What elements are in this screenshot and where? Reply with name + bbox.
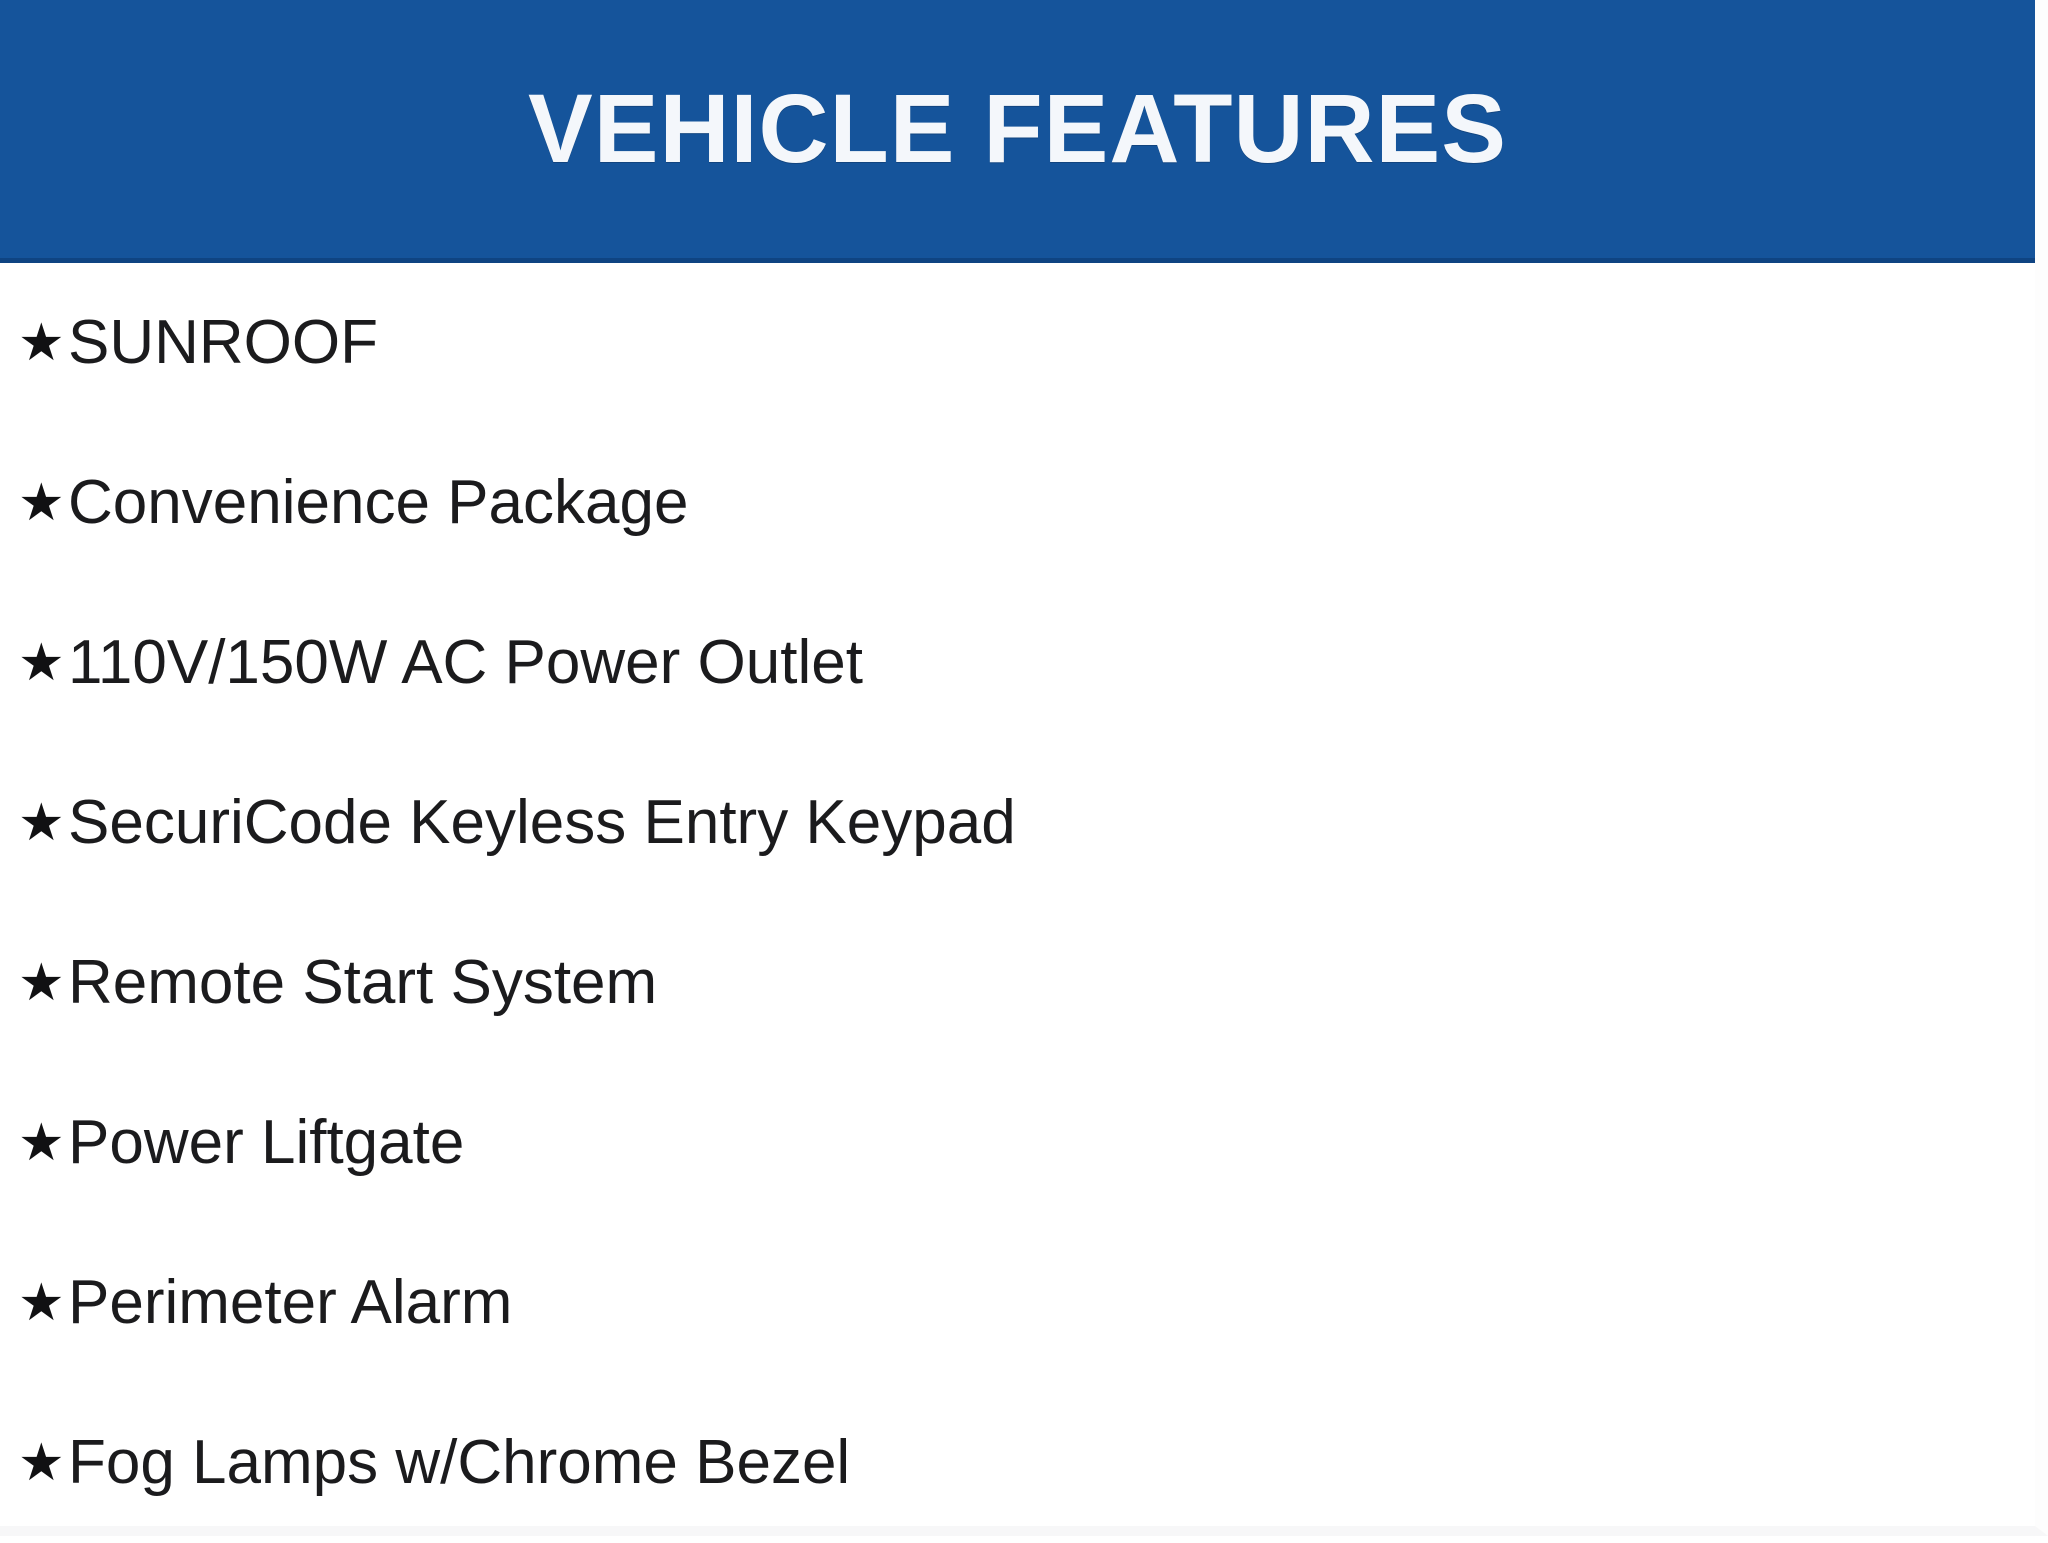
list-item: ★ Fog Lamps w/Chrome Bezel [0,1383,2022,1543]
feature-label: Fog Lamps w/Chrome Bezel [68,1432,850,1494]
star-icon: ★ [18,637,68,689]
feature-label: Remote Start System [68,952,657,1014]
list-item: ★ SecuriCode Keyless Entry Keypad [0,743,2022,903]
star-icon: ★ [18,477,68,529]
star-icon: ★ [18,317,68,369]
feature-label: SUNROOF [68,312,378,374]
list-item: ★ 110V/150W AC Power Outlet [0,583,2022,743]
feature-label: SecuriCode Keyless Entry Keypad [68,792,1016,854]
star-icon: ★ [18,797,68,849]
star-icon: ★ [18,1117,68,1169]
vehicle-features-header: VEHICLE FEATURES [0,0,2035,263]
vehicle-features-list: ★ SUNROOF ★ Convenience Package ★ 110V/1… [0,263,2022,1526]
star-icon: ★ [18,1437,68,1489]
page-title: VEHICLE FEATURES [528,80,1507,183]
star-icon: ★ [18,1277,68,1329]
vehicle-features-panel: VEHICLE FEATURES ★ SUNROOF ★ Convenience… [0,0,2048,1536]
list-item: ★ SUNROOF [0,263,2022,423]
feature-label: 110V/150W AC Power Outlet [68,632,863,694]
feature-label: Perimeter Alarm [68,1272,512,1334]
star-icon: ★ [18,957,68,1009]
feature-label: Power Liftgate [68,1112,464,1174]
list-item: ★ Perimeter Alarm [0,1223,2022,1383]
feature-label: Convenience Package [68,472,688,534]
list-item: ★ Power Liftgate [0,1063,2022,1223]
list-item: ★ Convenience Package [0,423,2022,583]
list-item: ★ Remote Start System [0,903,2022,1063]
